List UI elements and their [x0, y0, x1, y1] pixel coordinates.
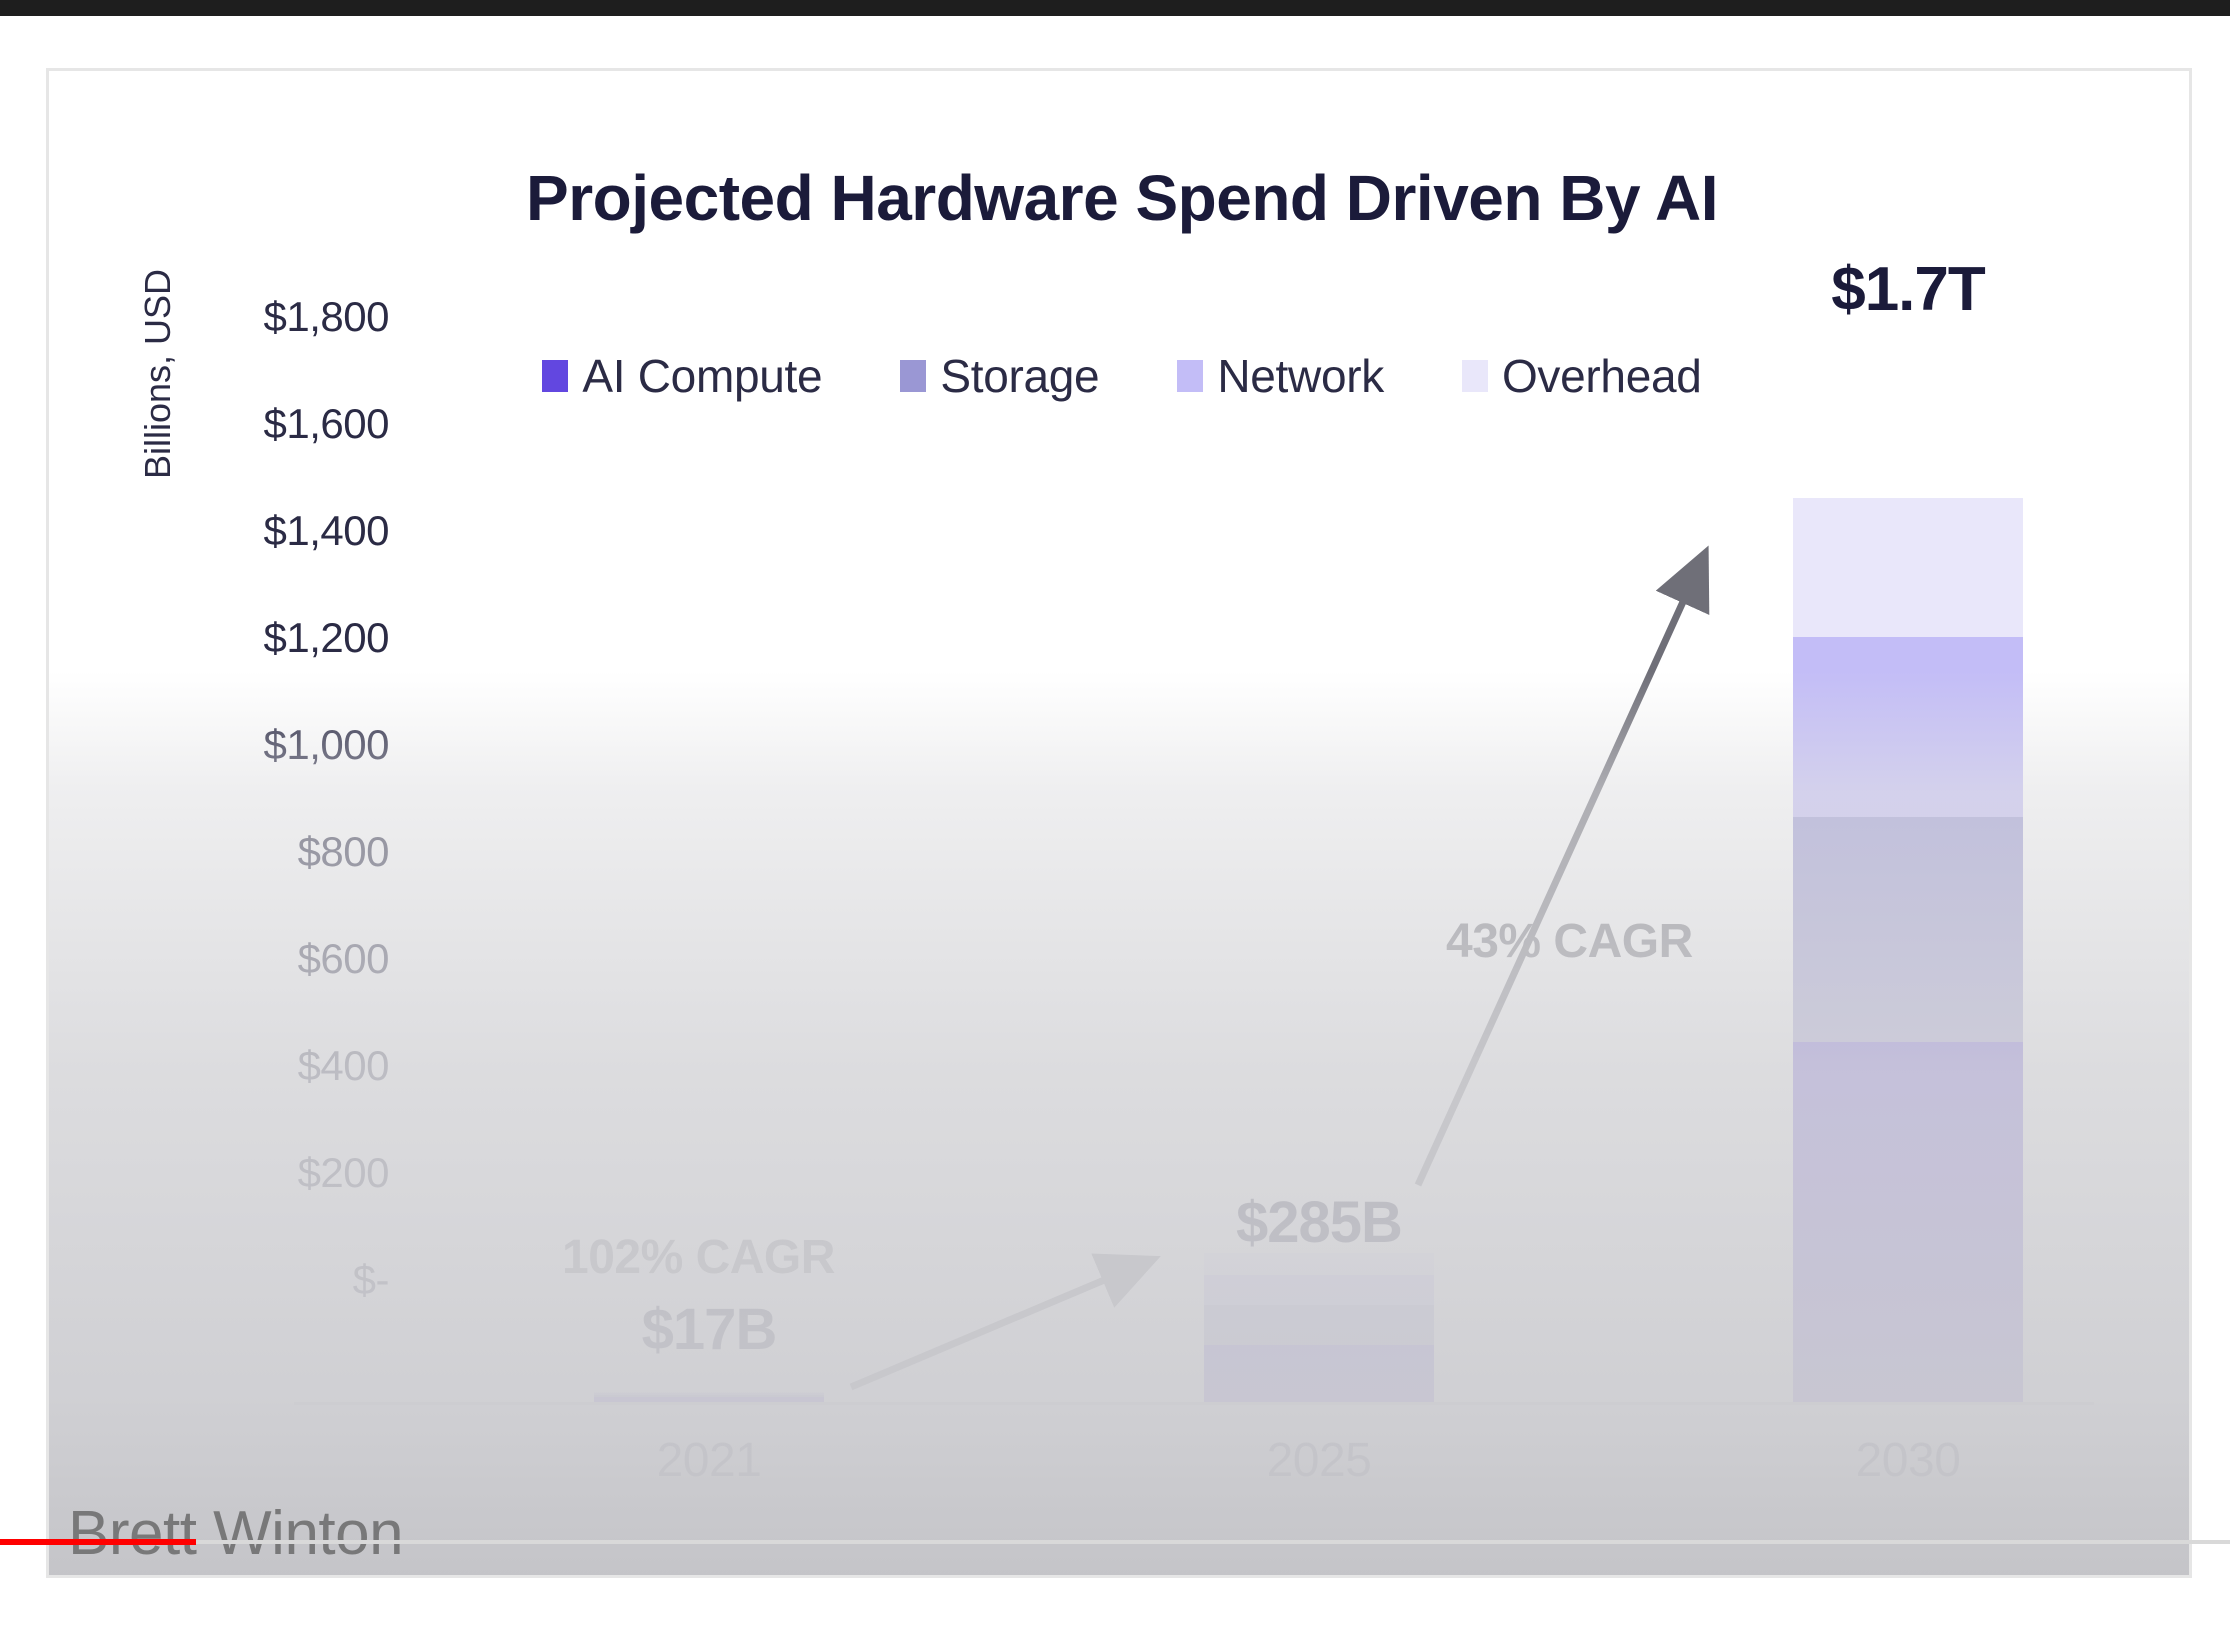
- y-tick-1400: $1,400: [169, 507, 389, 555]
- screenshot-root: Projected Hardware Spend Driven By AI AI…: [0, 0, 2230, 1630]
- y-tick-1200: $1,200: [169, 614, 389, 662]
- bar-total-2025: $285B: [1184, 1189, 1454, 1256]
- y-axis-ticks: $1,800 $1,600 $1,400 $1,200 $1,000 $800 …: [109, 71, 389, 1578]
- bar-segment-storage-2030: [1793, 817, 2023, 1042]
- bar-segment-ai-compute-2030: [1793, 1042, 2023, 1402]
- video-scrubber-progress[interactable]: [0, 1539, 196, 1545]
- x-tick-2021: 2021: [594, 1433, 824, 1488]
- y-tick-zero: $-: [169, 1256, 389, 1304]
- bar-segment-storage-2025: [1204, 1305, 1434, 1345]
- bar-segment-ai-compute-2025: [1204, 1345, 1434, 1402]
- bar-segment-network-2030: [1793, 637, 2023, 817]
- x-tick-2030: 2030: [1793, 1433, 2023, 1488]
- x-axis-baseline: [294, 1402, 2094, 1405]
- cagr-label-1: 102% CAGR: [562, 1230, 835, 1285]
- y-tick-1800: $1,800: [169, 293, 389, 341]
- plot-area: $17B $285B $1.7T 2021 2025 2030: [389, 71, 2192, 1578]
- slide-frame: Projected Hardware Spend Driven By AI AI…: [46, 68, 2192, 1578]
- bar-2030[interactable]: [1793, 498, 2023, 1402]
- bar-2025[interactable]: [1204, 1253, 1434, 1402]
- y-tick-1600: $1,600: [169, 400, 389, 448]
- y-tick-400: $400: [169, 1042, 389, 1090]
- video-letterbox-bar: [0, 0, 2230, 16]
- y-tick-1000: $1,000: [169, 721, 389, 769]
- bar-total-2021: $17B: [594, 1296, 824, 1363]
- bar-segment-overhead-2030: [1793, 498, 2023, 637]
- presenter-watermark: Brett Winton: [68, 1498, 403, 1569]
- y-tick-600: $600: [169, 935, 389, 983]
- cagr-label-2: 43% CAGR: [1446, 914, 1693, 969]
- bar-segment-ai-compute-2021: [594, 1397, 824, 1402]
- bar-total-2030: $1.7T: [1773, 254, 2043, 325]
- y-tick-200: $200: [169, 1149, 389, 1197]
- bar-segment-overhead-2025: [1204, 1253, 1434, 1275]
- bar-segment-network-2025: [1204, 1275, 1434, 1305]
- bar-2021[interactable]: [594, 1392, 824, 1402]
- x-tick-2025: 2025: [1204, 1433, 1434, 1488]
- y-tick-800: $800: [169, 828, 389, 876]
- video-scrubber-track[interactable]: [0, 1540, 2230, 1544]
